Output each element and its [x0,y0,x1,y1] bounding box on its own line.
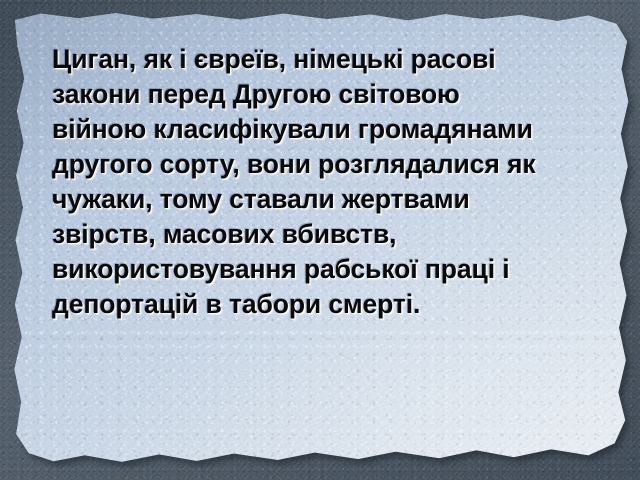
body-line: звірств, масових вбивств, [52,217,600,252]
body-line: використовування рабської праці і [52,252,600,287]
body-line: війною класифікували громадянами [52,112,600,147]
slide-canvas: Циган, як і євреїв, німецькі расові зако… [0,0,640,480]
body-line: депортацій в табори смерті. [52,287,600,322]
body-line: закони перед Другою світовою [52,77,600,112]
body-line: Циган, як і євреїв, німецькі расові [52,42,600,77]
body-line: другого сорту, вони розглядалися як [52,147,600,182]
body-line: чужаки, тому ставали жертвами [52,182,600,217]
slide-body-text: Циган, як і євреїв, німецькі расові зако… [52,42,600,322]
